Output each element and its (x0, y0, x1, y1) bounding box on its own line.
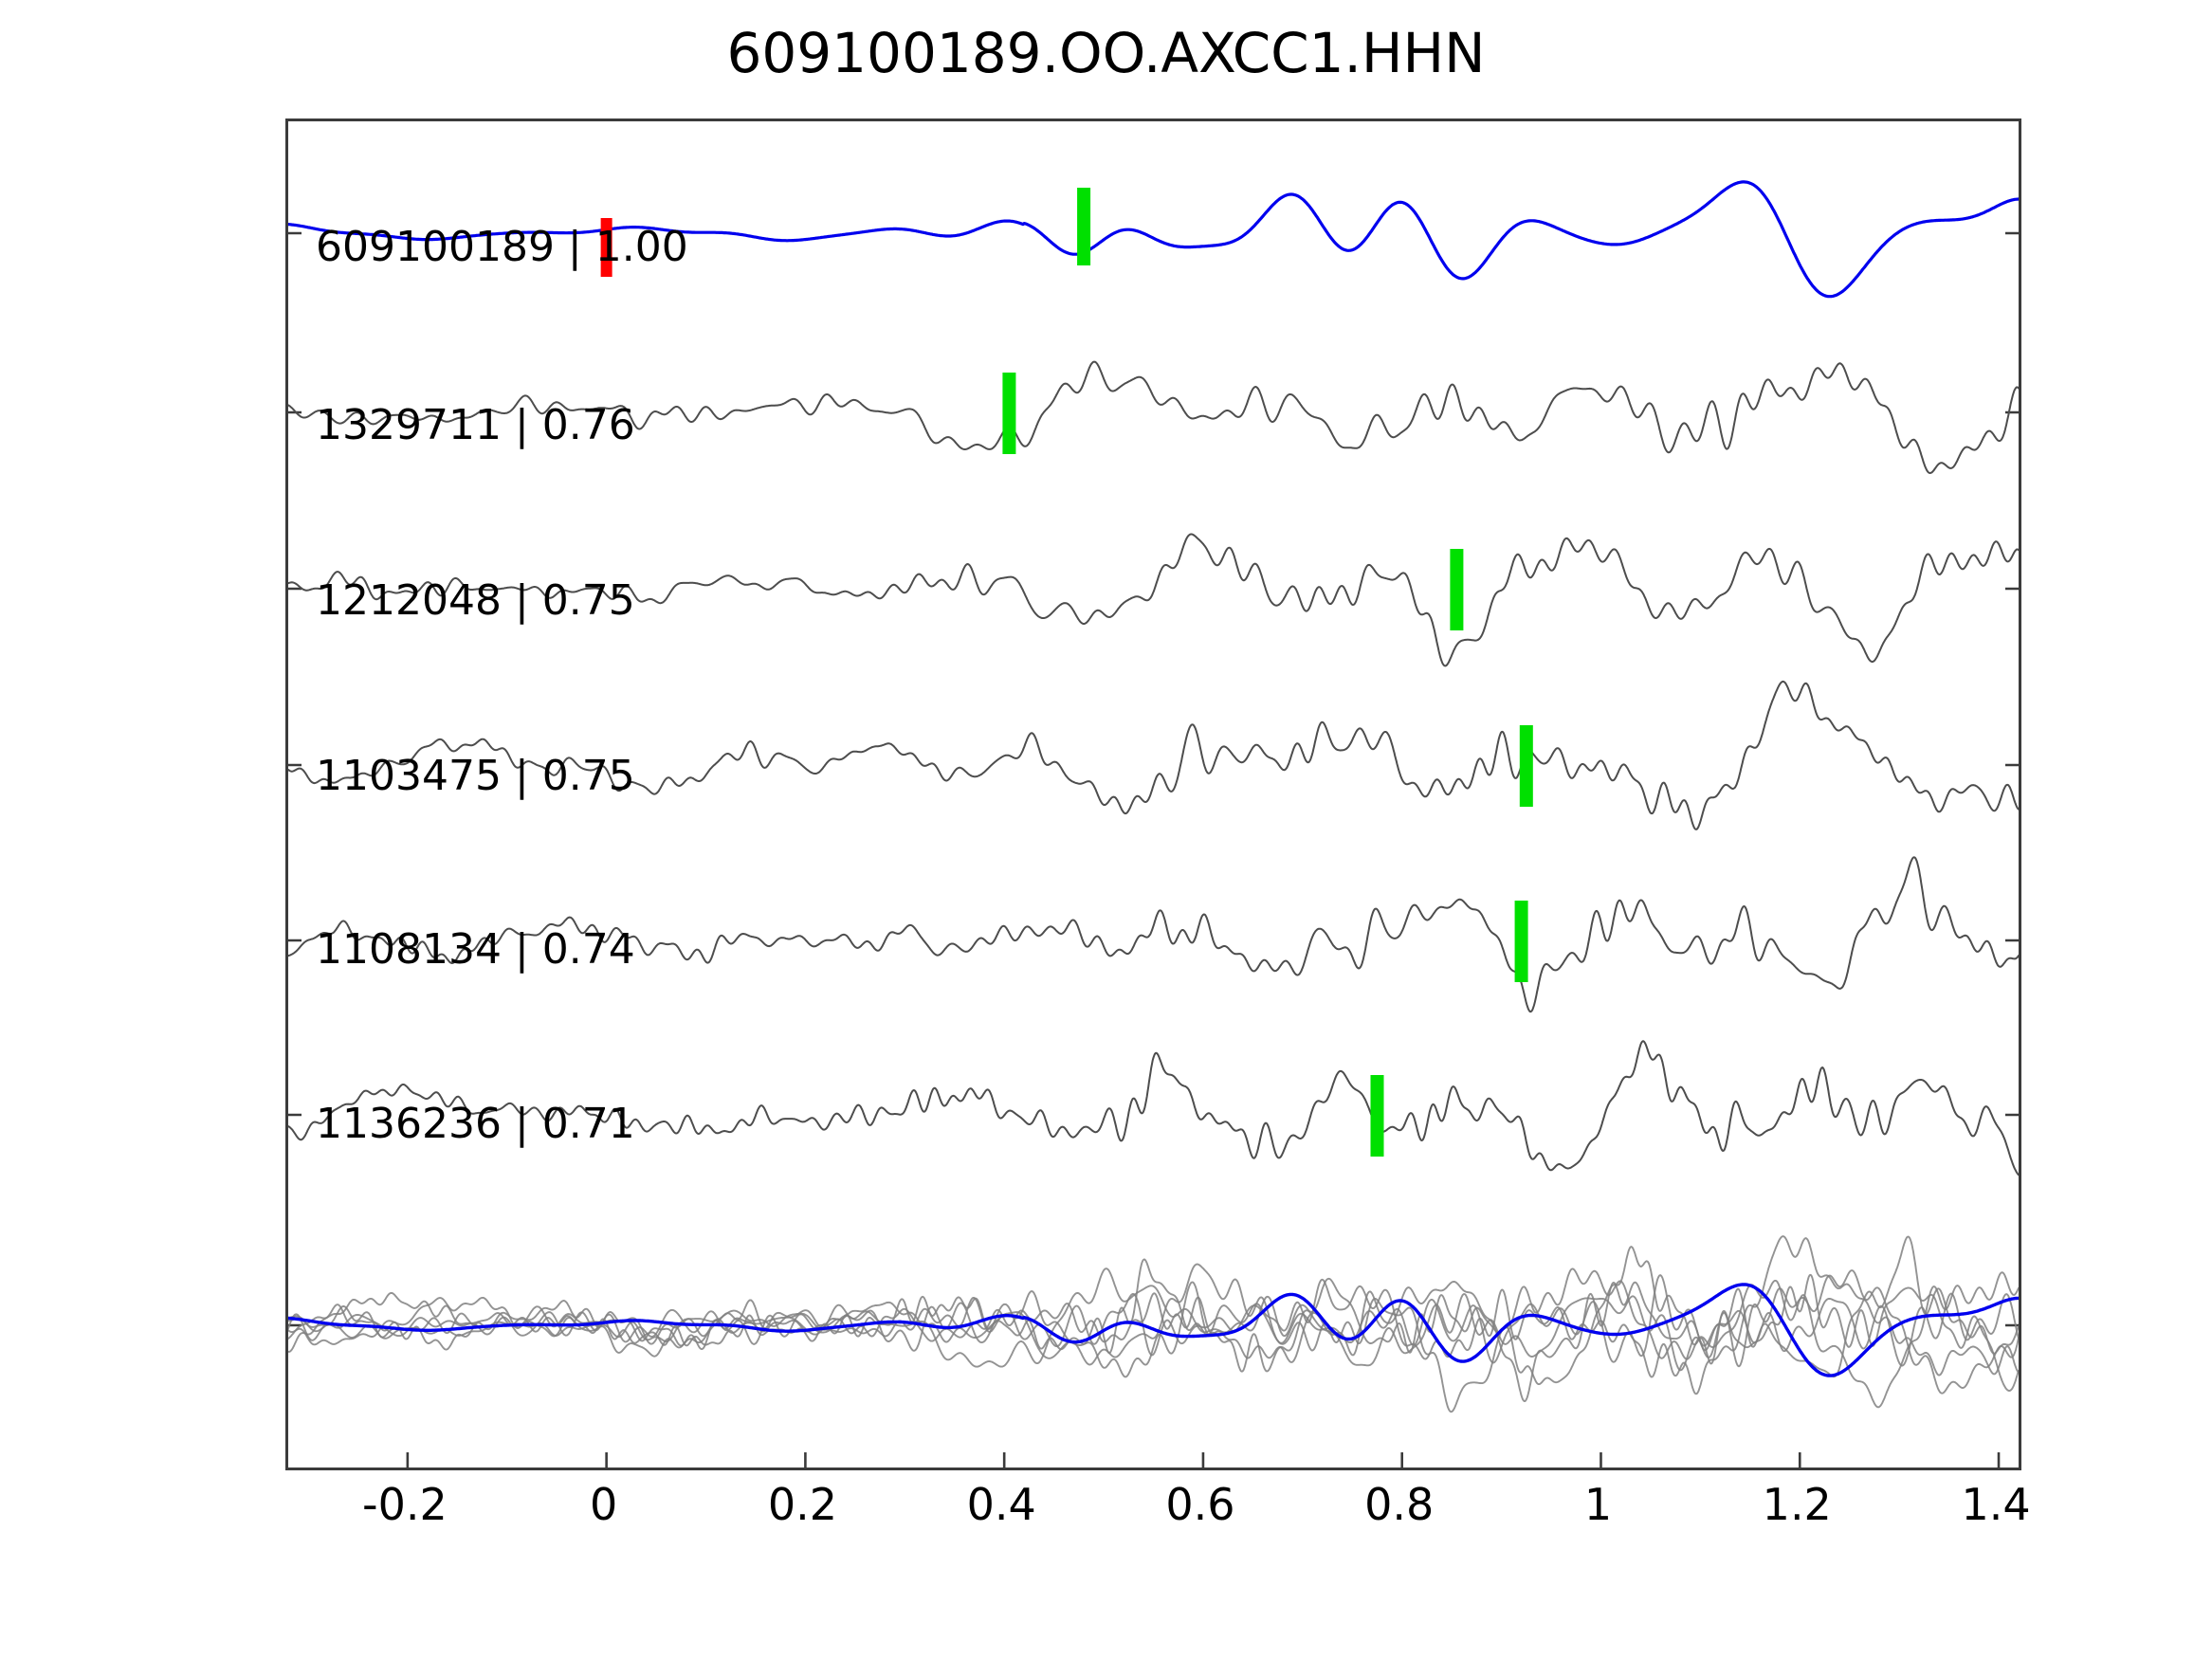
chart-page: 609100189.OO.AXCC1.HHN 609100189 | 1.00 … (0, 0, 2212, 1659)
pick-marker-green-0 (1077, 188, 1090, 265)
trace-label-1: 1329711 | 0.76 (316, 401, 635, 449)
pick-marker-green-4 (1515, 901, 1528, 982)
x-tick-label-4: 0.6 (1165, 1479, 1234, 1530)
x-tick-label-0: -0.2 (362, 1479, 448, 1530)
page-title: 609100189.OO.AXCC1.HHN (0, 21, 2212, 85)
trace-label-2: 1212048 | 0.75 (316, 576, 635, 625)
x-tick-label-7: 1.2 (1763, 1479, 1832, 1530)
stack-overlay-trace-2 (288, 1236, 2019, 1394)
pick-marker-green-2 (1450, 549, 1463, 630)
x-tick-label-6: 1 (1584, 1479, 1612, 1530)
x-tick-label-2: 0.2 (768, 1479, 837, 1530)
trace-label-4: 1108134 | 0.74 (316, 925, 635, 974)
x-tick-label-8: 1.4 (1961, 1479, 2030, 1530)
x-axis-tick-labels: -0.200.20.40.60.811.21.4 (285, 1479, 2021, 1545)
x-tick-label-3: 0.4 (967, 1479, 1036, 1530)
trace-label-5: 1136236 | 0.71 (316, 1100, 635, 1148)
x-tick-label-1: 0 (590, 1479, 617, 1530)
pick-marker-green-5 (1370, 1075, 1383, 1157)
stack-template-trace (288, 1285, 2019, 1376)
pick-marker-green-1 (1002, 373, 1015, 454)
trace-label-3: 1103475 | 0.75 (316, 752, 635, 800)
pick-marker-green-3 (1520, 725, 1533, 807)
x-tick-label-5: 0.8 (1364, 1479, 1434, 1530)
trace-label-0: 609100189 | 1.00 (316, 223, 688, 271)
